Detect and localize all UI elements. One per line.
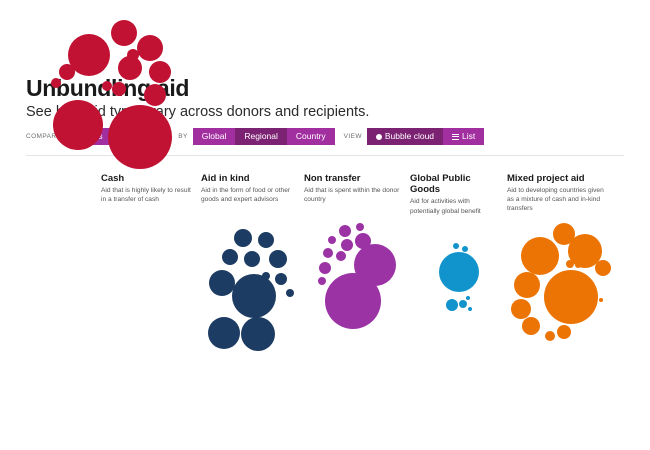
bubble[interactable] xyxy=(462,246,468,252)
bubble[interactable] xyxy=(544,270,598,324)
bubble[interactable] xyxy=(521,237,559,275)
bubble-cloud-chart xyxy=(0,0,650,450)
bubble[interactable] xyxy=(244,251,260,267)
bubble[interactable] xyxy=(222,249,238,265)
bubble[interactable] xyxy=(439,252,479,292)
bubble[interactable] xyxy=(275,273,287,285)
bubble[interactable] xyxy=(111,20,137,46)
bubble[interactable] xyxy=(453,243,459,249)
bubble[interactable] xyxy=(522,317,540,335)
bubble[interactable] xyxy=(234,229,252,247)
bubble[interactable] xyxy=(511,299,531,319)
bubble[interactable] xyxy=(356,223,364,231)
bubble[interactable] xyxy=(144,84,166,106)
bubble[interactable] xyxy=(459,300,467,308)
bubble[interactable] xyxy=(557,325,571,339)
bubble[interactable] xyxy=(336,251,346,261)
bubble[interactable] xyxy=(59,64,75,80)
bubble[interactable] xyxy=(446,299,458,311)
bubble-group-cash xyxy=(51,20,172,169)
bubble-group-aid-in-kind xyxy=(208,229,294,351)
bubble[interactable] xyxy=(325,273,381,329)
bubble[interactable] xyxy=(127,49,139,61)
bubble[interactable] xyxy=(323,248,333,258)
bubble-group-non-transfer xyxy=(318,223,396,329)
bubble[interactable] xyxy=(137,35,163,61)
bubble[interactable] xyxy=(258,232,274,248)
page-root: Unbundling aid See how aid types vary ac… xyxy=(0,0,650,450)
bubble[interactable] xyxy=(339,225,351,237)
bubble[interactable] xyxy=(514,272,540,298)
bubble[interactable] xyxy=(566,260,574,268)
bubble[interactable] xyxy=(209,270,235,296)
bubble[interactable] xyxy=(149,61,171,83)
bubble[interactable] xyxy=(286,289,294,297)
bubble[interactable] xyxy=(319,262,331,274)
bubble[interactable] xyxy=(112,82,126,96)
bubble-group-global-public-goods xyxy=(439,243,479,311)
bubble[interactable] xyxy=(269,250,287,268)
bubble[interactable] xyxy=(232,274,276,318)
bubble[interactable] xyxy=(468,307,472,311)
bubble[interactable] xyxy=(318,277,326,285)
bubble[interactable] xyxy=(575,262,581,268)
bubble[interactable] xyxy=(108,105,172,169)
bubble[interactable] xyxy=(241,317,275,351)
bubble[interactable] xyxy=(208,317,240,349)
bubble[interactable] xyxy=(328,236,336,244)
bubble-group-mixed-project-aid xyxy=(511,223,611,341)
bubble[interactable] xyxy=(466,296,470,300)
bubble[interactable] xyxy=(53,100,103,150)
bubble[interactable] xyxy=(102,81,112,91)
bubble[interactable] xyxy=(545,331,555,341)
bubble[interactable] xyxy=(599,298,603,302)
bubble[interactable] xyxy=(341,239,353,251)
bubble[interactable] xyxy=(51,78,61,88)
bubble[interactable] xyxy=(595,260,611,276)
